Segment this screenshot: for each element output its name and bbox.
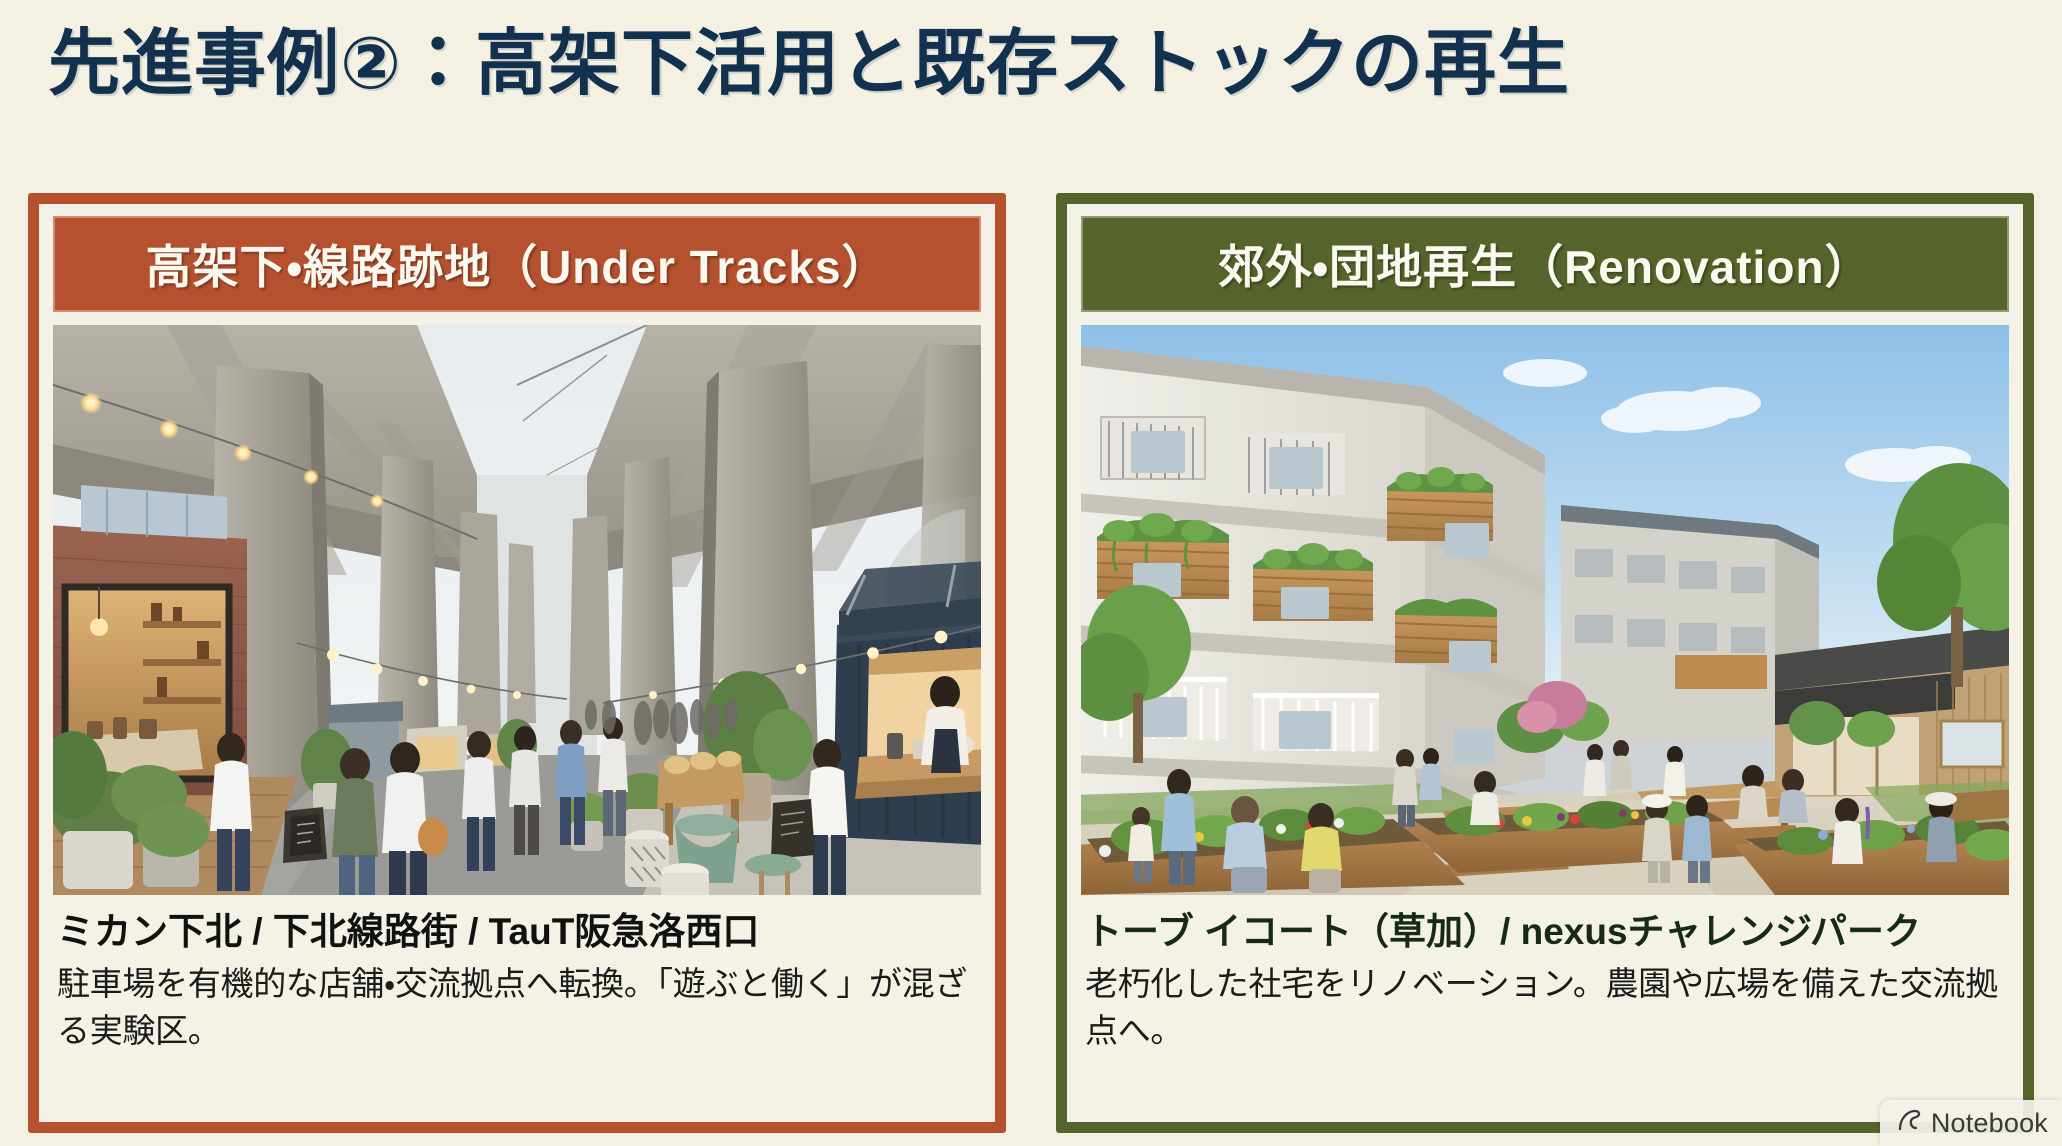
caption-body: 駐車場を有機的な店舗・交流拠点へ転換。「遊ぶと働く」が混ざる実験区。 [57,961,977,1055]
caption-renovation: トーブ イコート（草加）/ nexusチャレンジパーク 老朽化した社宅をリノベー… [1081,909,2009,1055]
panels-container: 高架下・線路跡地（Under Tracks） [0,193,2062,1133]
photo-renovation [1081,325,2009,895]
page-title: 先進事例②：高架下活用と既存ストックの再生 [48,22,1570,107]
panel-body: 郊外・団地再生（Renovation） [1067,204,2023,1122]
notebooklm-spiral-icon [1896,1108,1922,1139]
caption-title: トーブ イコート（草加）/ nexusチャレンジパーク [1085,909,2005,955]
notebooklm-label: Notebook [1931,1108,2048,1139]
panel-header-renovation: 郊外・団地再生（Renovation） [1081,216,2009,312]
photo-under-tracks [53,325,981,895]
caption-title: ミカン下北 / 下北線路街 / TauT阪急洛西口 [57,909,977,955]
caption-body: 老朽化した社宅をリノベーション。農園や広場を備えた交流拠点へ。 [1085,961,2005,1055]
panel-renovation: 郊外・団地再生（Renovation） [1056,193,2034,1133]
panel-under-tracks: 高架下・線路跡地（Under Tracks） [28,193,1006,1133]
notebooklm-watermark: Notebook [1880,1100,2062,1146]
panel-header-under-tracks: 高架下・線路跡地（Under Tracks） [53,216,981,312]
panel-body: 高架下・線路跡地（Under Tracks） [39,204,995,1122]
figure-renovation [1081,325,2009,895]
figure-under-tracks [53,325,981,895]
caption-under-tracks: ミカン下北 / 下北線路街 / TauT阪急洛西口 駐車場を有機的な店舗・交流拠… [53,909,981,1055]
